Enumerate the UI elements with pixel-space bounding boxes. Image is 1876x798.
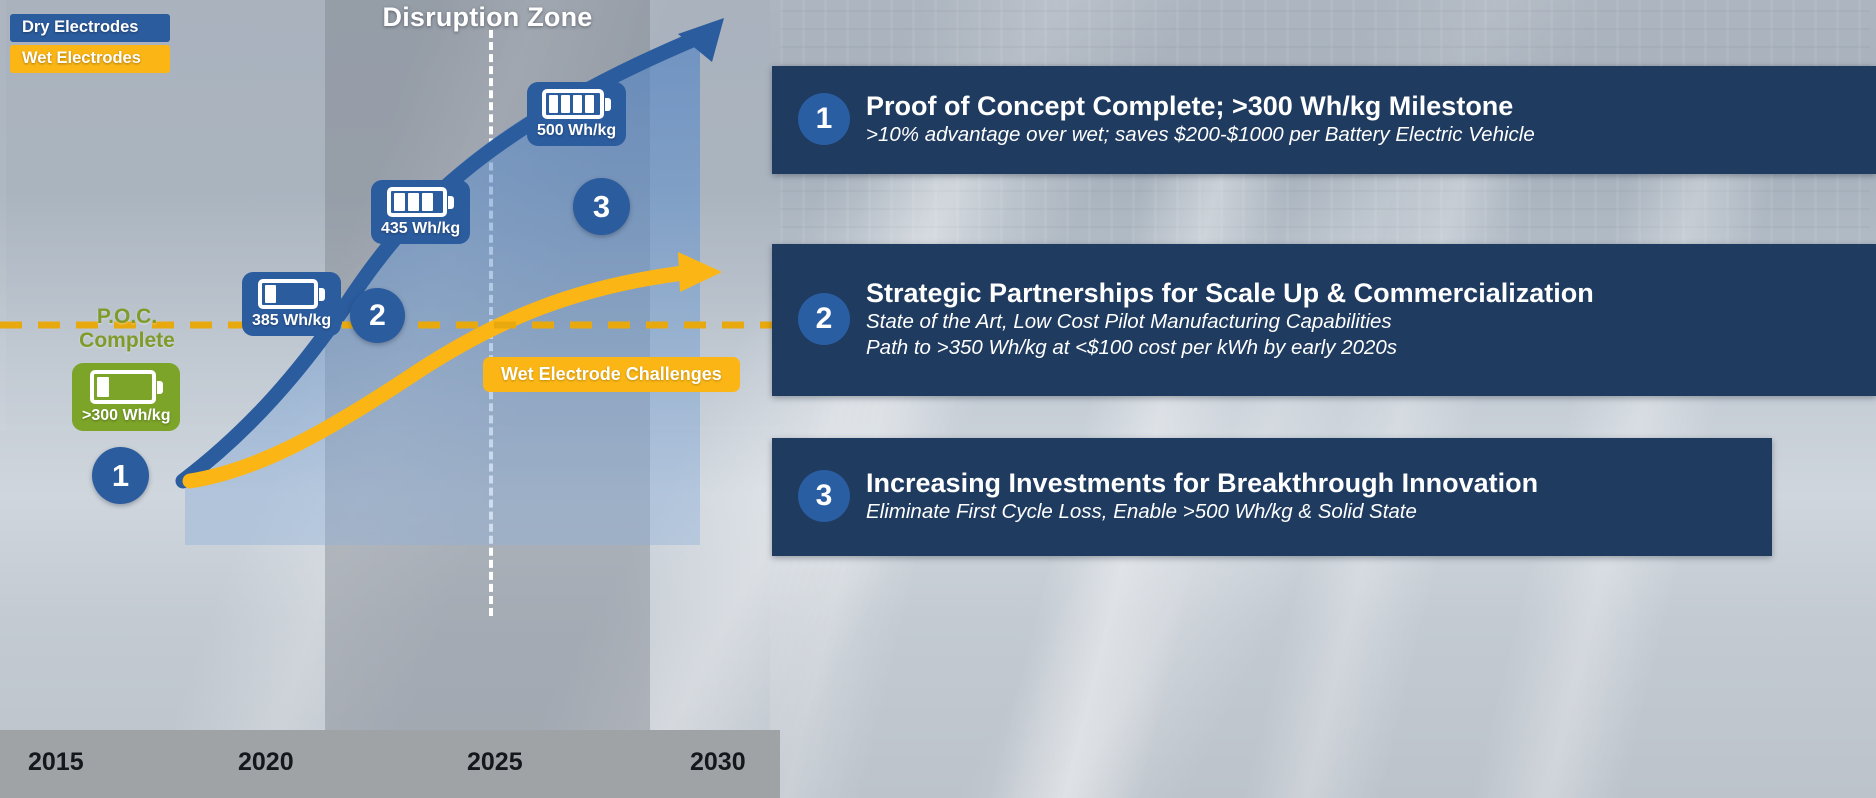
badge-435-label: 435 Wh/kg — [381, 220, 460, 238]
badge-500-label: 500 Wh/kg — [537, 122, 616, 140]
info-panel-2-subtitle-2: Path to >350 Wh/kg at <$100 cost per kWh… — [866, 335, 1876, 361]
battery-icon-300 — [90, 370, 163, 404]
info-panel-1-number: 1 — [798, 93, 850, 145]
info-panel-3-number: 3 — [798, 470, 850, 522]
info-panel-1[interactable]: 1 Proof of Concept Complete; >300 Wh/kg … — [772, 66, 1876, 174]
legend-item-dry-electrodes: Dry Electrodes — [10, 14, 170, 42]
chart-marker-3[interactable]: 3 — [573, 178, 630, 235]
info-panel-1-title: Proof of Concept Complete; >300 Wh/kg Mi… — [866, 91, 1876, 122]
chart-marker-1[interactable]: 1 — [92, 447, 149, 504]
battery-icon-385 — [258, 279, 325, 309]
battery-icon-435 — [387, 187, 454, 217]
axis-tick-2015: 2015 — [28, 748, 84, 777]
wet-electrode-challenges-badge[interactable]: Wet Electrode Challenges — [483, 357, 740, 392]
badge-500[interactable]: 500 Wh/kg — [527, 82, 626, 146]
badge-435[interactable]: 435 Wh/kg — [371, 180, 470, 244]
poc-complete-label: P.O.C. Complete — [72, 305, 182, 353]
legend: Dry Electrodes Wet Electrodes — [10, 14, 170, 76]
chart-marker-2[interactable]: 2 — [350, 288, 405, 343]
info-panel-2-text: Strategic Partnerships for Scale Up & Co… — [866, 278, 1876, 361]
poc-line-1: P.O.C. — [72, 305, 182, 329]
info-panel-1-text: Proof of Concept Complete; >300 Wh/kg Mi… — [866, 91, 1876, 148]
info-panel-3-title: Increasing Investments for Breakthrough … — [866, 468, 1772, 499]
badge-300[interactable]: >300 Wh/kg — [72, 363, 180, 431]
info-panel-3[interactable]: 3 Increasing Investments for Breakthroug… — [772, 438, 1772, 556]
info-panel-2-number: 2 — [798, 293, 850, 345]
info-panel-3-subtitle-1: Eliminate First Cycle Loss, Enable >500 … — [866, 499, 1772, 525]
info-panel-2-subtitle-1: State of the Art, Low Cost Pilot Manufac… — [866, 309, 1876, 335]
info-panel-2[interactable]: 2 Strategic Partnerships for Scale Up & … — [772, 244, 1876, 396]
badge-385[interactable]: 385 Wh/kg — [242, 272, 341, 336]
badge-385-label: 385 Wh/kg — [252, 312, 331, 330]
info-panel-1-subtitle-1: >10% advantage over wet; saves $200-$100… — [866, 122, 1876, 148]
legend-item-wet-electrodes: Wet Electrodes — [10, 45, 170, 73]
axis-tick-2030: 2030 — [690, 748, 746, 777]
battery-icon-500 — [542, 89, 611, 119]
slide-root: Disruption Zone Dry Electrodes Wet Elect… — [0, 0, 1876, 798]
axis-tick-2020: 2020 — [238, 748, 294, 777]
info-panel-2-title: Strategic Partnerships for Scale Up & Co… — [866, 278, 1876, 309]
badge-300-label: >300 Wh/kg — [82, 407, 170, 425]
info-panel-3-text: Increasing Investments for Breakthrough … — [866, 468, 1772, 525]
poc-line-2: Complete — [72, 329, 182, 353]
axis-tick-2025: 2025 — [467, 748, 523, 777]
timeline-axis — [0, 730, 780, 798]
